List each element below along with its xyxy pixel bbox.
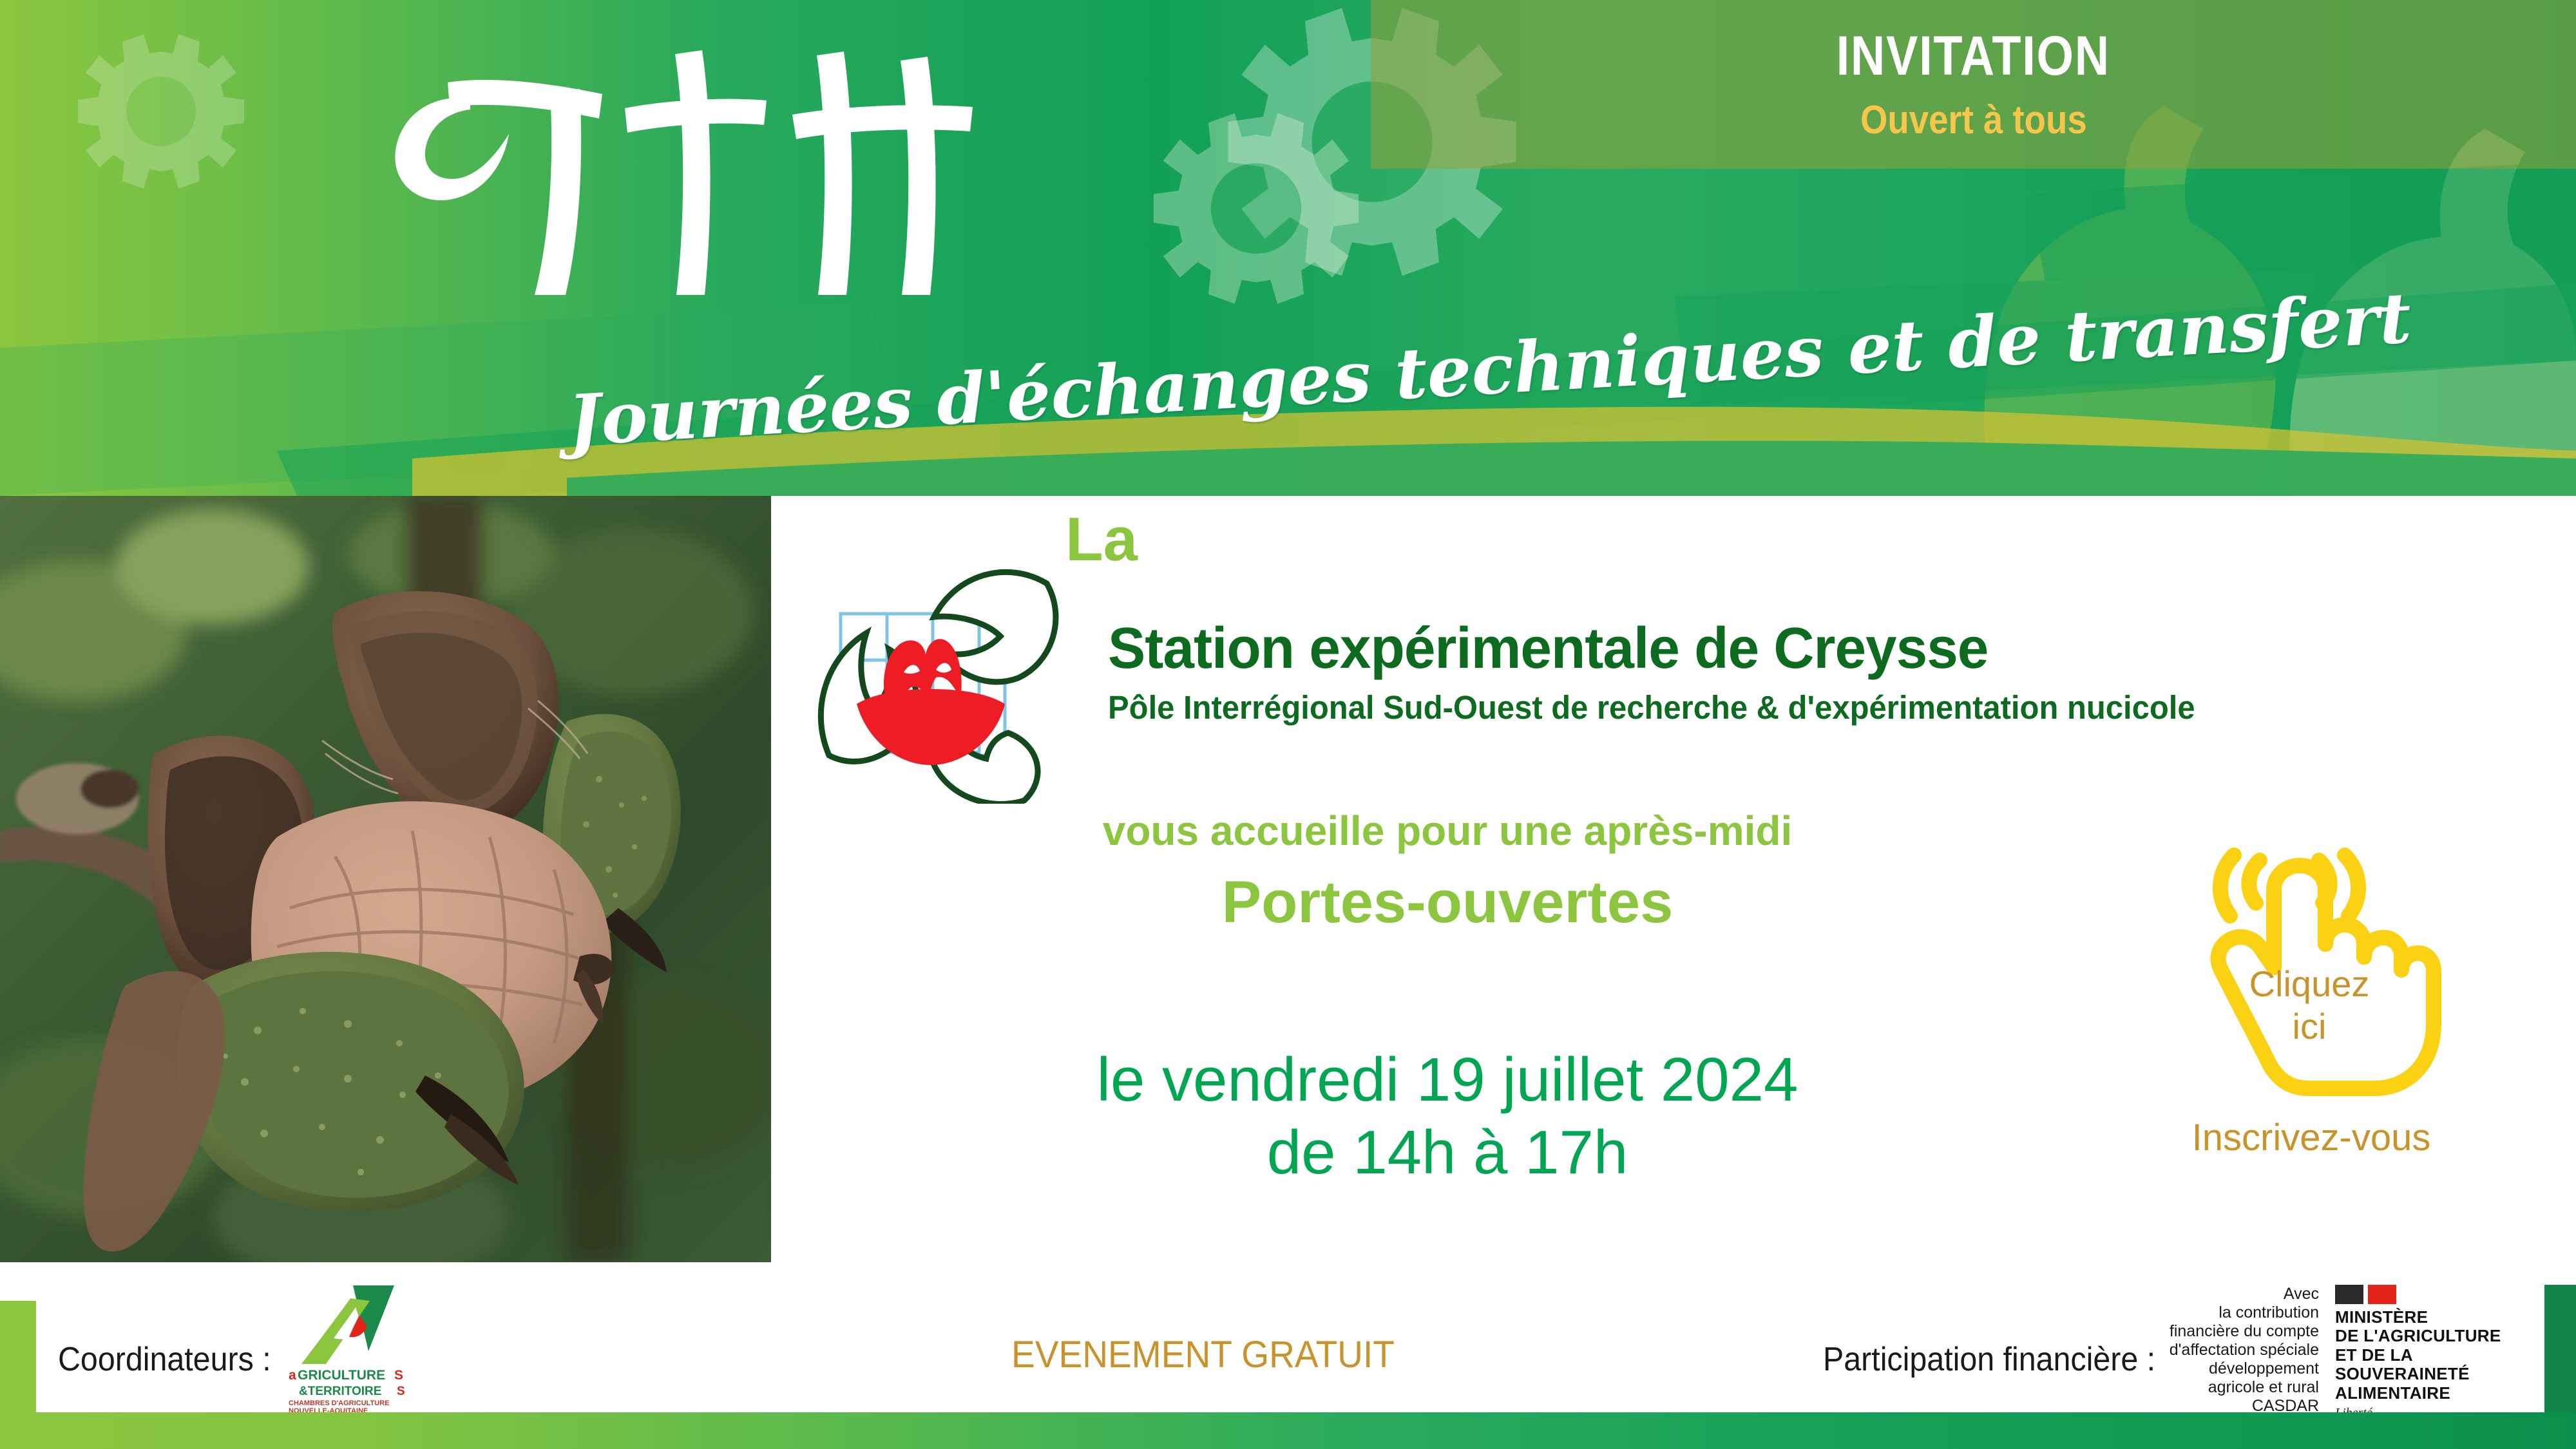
svg-text:&TERRITOIRE: &TERRITOIRE bbox=[299, 1385, 381, 1398]
funding-label: Participation financière : bbox=[1823, 1343, 2155, 1376]
ministry-logo: MINISTÈRE DE L'AGRICULTURE ET DE LA SOUV… bbox=[2335, 1285, 2548, 1404]
bottom-gradient-bar bbox=[0, 1412, 2576, 1449]
casdar-note: Avec la contribution financière du compt… bbox=[2151, 1285, 2319, 1416]
header-banner: Journées d'échanges techniques et de tra… bbox=[0, 0, 2576, 496]
cliquez-line2: ici bbox=[2232, 1005, 2387, 1048]
footer-right-edge bbox=[2544, 1285, 2576, 1412]
cliquez-ici-label[interactable]: Cliquez ici bbox=[2232, 963, 2387, 1048]
invitation-subtitle: Ouvert à tous bbox=[1860, 100, 2087, 140]
walnut-photo-illustration bbox=[0, 496, 771, 1262]
svg-text:S: S bbox=[394, 1368, 403, 1383]
ca-logo-line1-a: a bbox=[289, 1368, 296, 1383]
la-word: La bbox=[1065, 509, 1138, 571]
invitation-poster: Journées d'échanges techniques et de tra… bbox=[0, 0, 2576, 1449]
event-type-heading: Portes-ouvertes bbox=[771, 873, 2124, 932]
creysse-station-logo bbox=[796, 546, 1066, 804]
coordinators-label: Coordinateurs : bbox=[58, 1343, 271, 1376]
jett-logo bbox=[277, 12, 1050, 295]
station-title: Station expérimentale de Creysse bbox=[1108, 618, 2483, 679]
walnut-photo bbox=[0, 496, 771, 1262]
chambres-agriculture-logo-mark: a GRICULTURE S &TERRITOIRE S CHAMBRES D'… bbox=[283, 1282, 419, 1414]
ministry-name: MINISTÈRE DE L'AGRICULTURE ET DE LA SOUV… bbox=[2335, 1308, 2548, 1403]
french-flag-icon bbox=[2335, 1285, 2548, 1304]
invitation-title: INVITATION bbox=[1837, 28, 2110, 84]
event-time: de 14h à 17h bbox=[771, 1116, 2124, 1189]
footer-accent-bar bbox=[0, 1301, 36, 1417]
free-event-label: EVENEMENT GRATUIT bbox=[1011, 1336, 1395, 1374]
station-subtitle: Pôle Interrégional Sud-Ouest de recherch… bbox=[1108, 690, 2506, 725]
svg-text:S: S bbox=[397, 1385, 405, 1398]
svg-text:CHAMBRES D'AGRICULTURE: CHAMBRES D'AGRICULTURE bbox=[289, 1399, 389, 1407]
invitation-badge: INVITATION Ouvert à tous bbox=[1371, 0, 2576, 169]
event-datetime: le vendredi 19 juillet 2024 de 14h à 17h bbox=[771, 1043, 2124, 1189]
register-label[interactable]: Inscrivez-vous bbox=[2144, 1119, 2479, 1157]
event-date: le vendredi 19 juillet 2024 bbox=[771, 1043, 2124, 1116]
register-cta[interactable]: Cliquez ici Inscrivez-vous bbox=[2171, 831, 2532, 1236]
cliquez-line1: Cliquez bbox=[2232, 963, 2387, 1005]
svg-text:GRICULTURE: GRICULTURE bbox=[298, 1368, 385, 1383]
jett-script-mark bbox=[277, 12, 1050, 295]
welcome-line: vous accueille pour une après-midi bbox=[771, 810, 2124, 851]
creysse-logo-mark bbox=[796, 546, 1066, 804]
chambres-agriculture-logo: a GRICULTURE S &TERRITOIRE S CHAMBRES D'… bbox=[283, 1282, 419, 1414]
